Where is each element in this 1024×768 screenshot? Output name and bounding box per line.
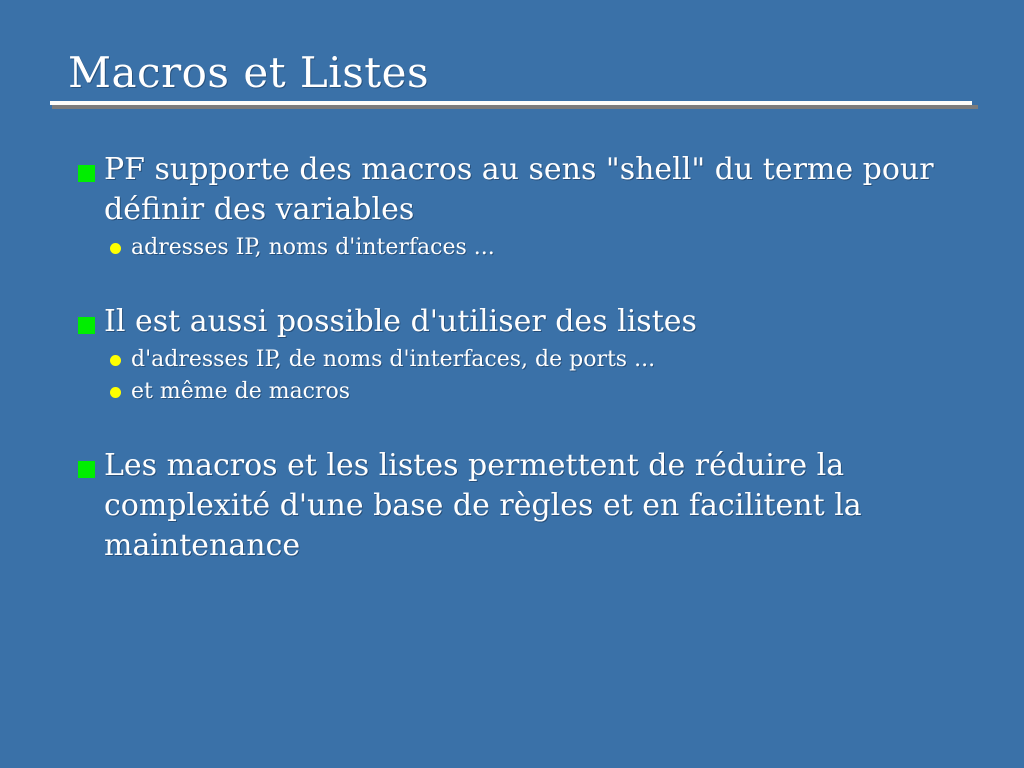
bullet-group: PF supporte des macros au sens "shell" d…	[0, 150, 1024, 264]
dot-bullet-icon	[110, 355, 121, 366]
sub-list-item: et même de macros	[0, 376, 1024, 408]
list-item: PF supporte des macros au sens "shell" d…	[0, 150, 1024, 230]
list-item-label: Les macros et les listes permettent de r…	[104, 448, 862, 563]
page-title: Macros et Listes	[50, 48, 974, 98]
slide-content: PF supporte des macros au sens "shell" d…	[0, 150, 1024, 568]
bullet-group: Il est aussi possible d'utiliser des lis…	[0, 302, 1024, 408]
slide-title-block: Macros et Listes	[50, 48, 974, 98]
list-item-label: PF supporte des macros au sens "shell" d…	[104, 152, 934, 227]
sub-list-item-label: adresses IP, noms d'interfaces ...	[131, 235, 495, 260]
list-item: Il est aussi possible d'utiliser des lis…	[0, 302, 1024, 342]
square-bullet-icon	[78, 165, 95, 182]
list-item: Les macros et les listes permettent de r…	[0, 446, 1024, 566]
title-underline-shadow	[52, 105, 978, 109]
sub-list-item: d'adresses IP, de noms d'interfaces, de …	[0, 344, 1024, 376]
square-bullet-icon	[78, 317, 95, 334]
bullet-group: Les macros et les listes permettent de r…	[0, 446, 1024, 566]
square-bullet-icon	[78, 461, 95, 478]
list-item-label: Il est aussi possible d'utiliser des lis…	[104, 304, 697, 339]
sub-list-item: adresses IP, noms d'interfaces ...	[0, 232, 1024, 264]
sub-list-item-label: d'adresses IP, de noms d'interfaces, de …	[131, 347, 655, 372]
dot-bullet-icon	[110, 387, 121, 398]
sub-list-item-label: et même de macros	[131, 379, 350, 404]
dot-bullet-icon	[110, 243, 121, 254]
presentation-slide: Macros et Listes PF supporte des macros …	[0, 0, 1024, 768]
